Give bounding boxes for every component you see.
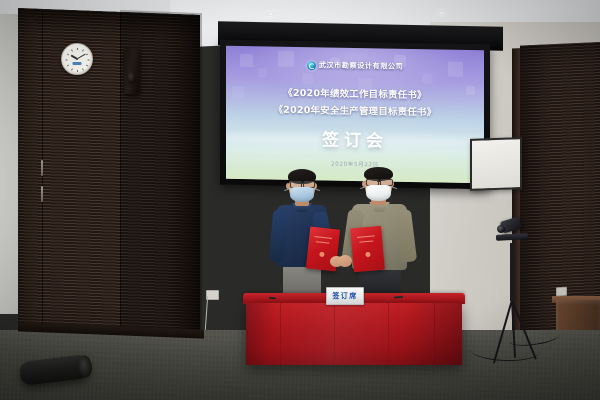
photo-scene: 武汉市勘察设计有限公司 《2020年绩效工作目标责任书》 《2020年安全生产管…: [0, 0, 600, 400]
person-right-mask: [366, 185, 391, 201]
downlight-icon: [266, 12, 275, 16]
wall-whiteboard: [470, 137, 522, 191]
person-left-glasses-bridge: [300, 183, 303, 184]
speaker-cone-icon: [127, 72, 136, 84]
table-placard-text: 签订席: [332, 291, 357, 301]
slide-company-name: 武汉市勘察设计有限公司: [319, 60, 404, 71]
table-placard: 签订席: [326, 287, 364, 305]
clock-center-dot: [76, 58, 78, 60]
camera-lens-icon: [497, 225, 505, 233]
projection-screen: 武汉市勘察设计有限公司 《2020年绩效工作目标责任书》 《2020年安全生产管…: [226, 46, 484, 184]
person-right-glasses-bridge: [377, 181, 380, 182]
power-cord: [205, 296, 209, 330]
wall-clock: [61, 43, 93, 75]
clock-face: [65, 47, 90, 72]
company-logo-icon: [307, 61, 316, 70]
slide-main-title: 签订会: [226, 124, 484, 154]
person-right-hand: [338, 255, 352, 267]
wall-speaker: [124, 48, 139, 95]
slide-document-line-2: 《2020年安全生产管理目标责任书》: [226, 101, 484, 120]
table-skirt: [246, 303, 462, 365]
clock-brand-mark: [73, 62, 82, 65]
door-handle[interactable]: [41, 186, 43, 202]
door-handle[interactable]: [41, 160, 43, 176]
person-right-red-folder: [350, 226, 385, 273]
power-outlet[interactable]: [556, 287, 567, 296]
speaker-led-icon: [129, 88, 131, 90]
clock-minute-hand: [77, 53, 86, 59]
tripod-column: [510, 243, 513, 301]
slide-document-line-1: 《2020年绩效工作目标责任书》: [226, 84, 484, 103]
person-left-mask: [290, 187, 314, 202]
downlight-icon: [437, 11, 446, 15]
panel-seam: [120, 14, 121, 340]
